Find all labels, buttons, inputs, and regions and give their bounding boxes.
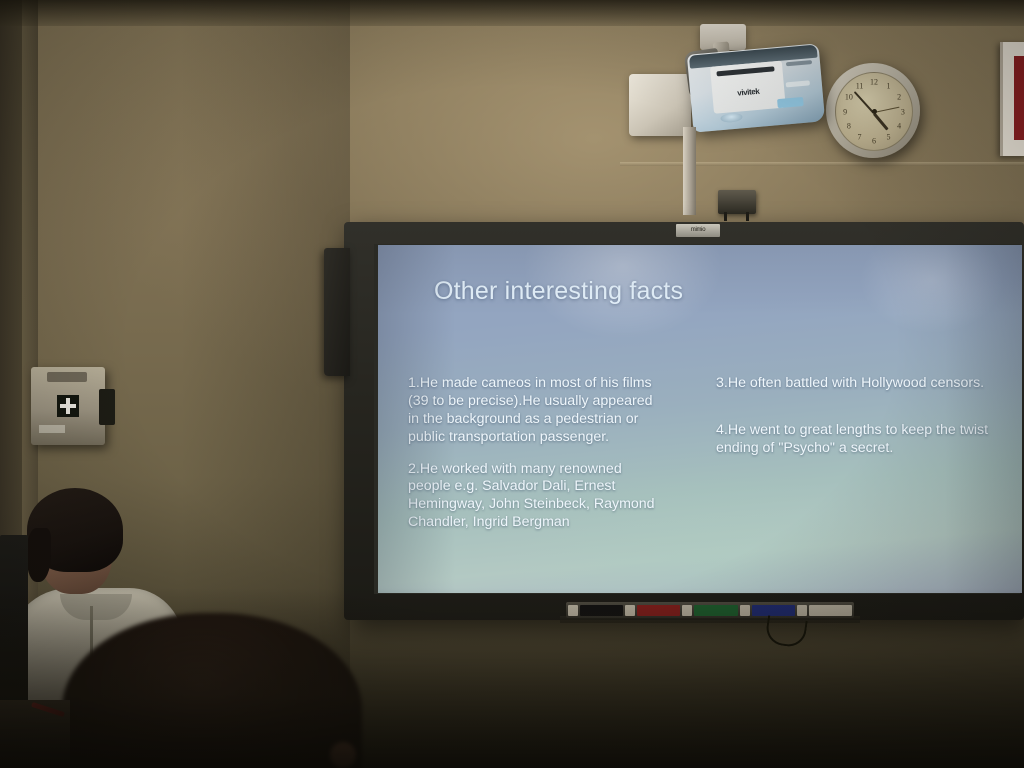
clock-numeral-8: 8 [847, 122, 851, 131]
first-aid-latch[interactable] [99, 389, 115, 425]
projector-body: vivitek [687, 43, 825, 132]
clock-numeral-6: 6 [872, 136, 876, 145]
projector-wall-plate [629, 74, 691, 136]
whiteboard-speaker-left [324, 248, 350, 376]
first-aid-label [39, 425, 65, 433]
first-aid-cross-icon [57, 395, 79, 417]
classroom-scene: 12 1 2 3 4 5 6 7 8 9 10 11 vivitek [0, 0, 1024, 768]
cross-horizontal [60, 404, 76, 408]
clock-numeral-10: 10 [845, 92, 853, 101]
wall-sign-red-bar [1014, 56, 1024, 140]
slide-fact-3: 3.He often battled with Hollywood censor… [716, 375, 1000, 393]
slide-fact-1: 1.He made cameos in most of his films (3… [408, 375, 666, 447]
ceiling-shadow [0, 0, 1024, 26]
first-aid-box[interactable] [31, 367, 105, 445]
clock-numeral-1: 1 [886, 82, 890, 91]
clock-face: 12 1 2 3 4 5 6 7 8 9 10 11 [835, 72, 913, 151]
clock-hour-hand [873, 112, 889, 130]
room-lower-shadow [0, 588, 1024, 768]
whiteboard-brand-label: mimio [676, 224, 720, 237]
sensor-leg-right [746, 212, 749, 221]
projector-vent-icon [716, 66, 774, 76]
slide-title: Other interesting facts [434, 277, 683, 306]
projector-accent-band [777, 97, 804, 108]
slide-fact-4: 4.He went to great lengths to keep the t… [716, 422, 1000, 458]
slide-column-left: 1.He made cameos in most of his films (3… [408, 375, 666, 532]
clock-center-pin [872, 109, 877, 114]
clock-numeral-5: 5 [886, 132, 890, 141]
clock-numeral-4: 4 [897, 122, 901, 131]
clock-numeral-9: 9 [843, 107, 847, 116]
sensor-leg-left [724, 212, 727, 221]
clock-numeral-11: 11 [856, 82, 864, 91]
clock-numeral-7: 7 [858, 132, 862, 141]
projector-support-pole [683, 127, 696, 215]
slide-column-right: 3.He often battled with Hollywood censor… [716, 375, 1000, 487]
wall-sign-right [1000, 42, 1024, 156]
wall-clock: 12 1 2 3 4 5 6 7 8 9 10 11 [826, 63, 920, 158]
student-hair-side [27, 528, 51, 582]
projector-side-vent [786, 60, 812, 66]
projected-slide[interactable]: Other interesting facts 1.He made cameos… [378, 245, 1022, 593]
clock-numeral-12: 12 [870, 78, 878, 87]
clock-second-hand [874, 106, 900, 113]
clock-numeral-2: 2 [897, 92, 901, 101]
slide-fact-2: 2.He worked with many renowned people e.… [408, 461, 666, 533]
projector-lens-icon [720, 112, 743, 123]
projector-side-label [786, 80, 810, 87]
projector-sensor-bracket [718, 190, 756, 214]
first-aid-handle [47, 372, 87, 382]
clock-numeral-3: 3 [901, 107, 905, 116]
projector-front-panel: vivitek [710, 61, 786, 114]
wall-ceiling-seam [620, 162, 1024, 166]
projector-brand-label: vivitek [737, 87, 760, 98]
